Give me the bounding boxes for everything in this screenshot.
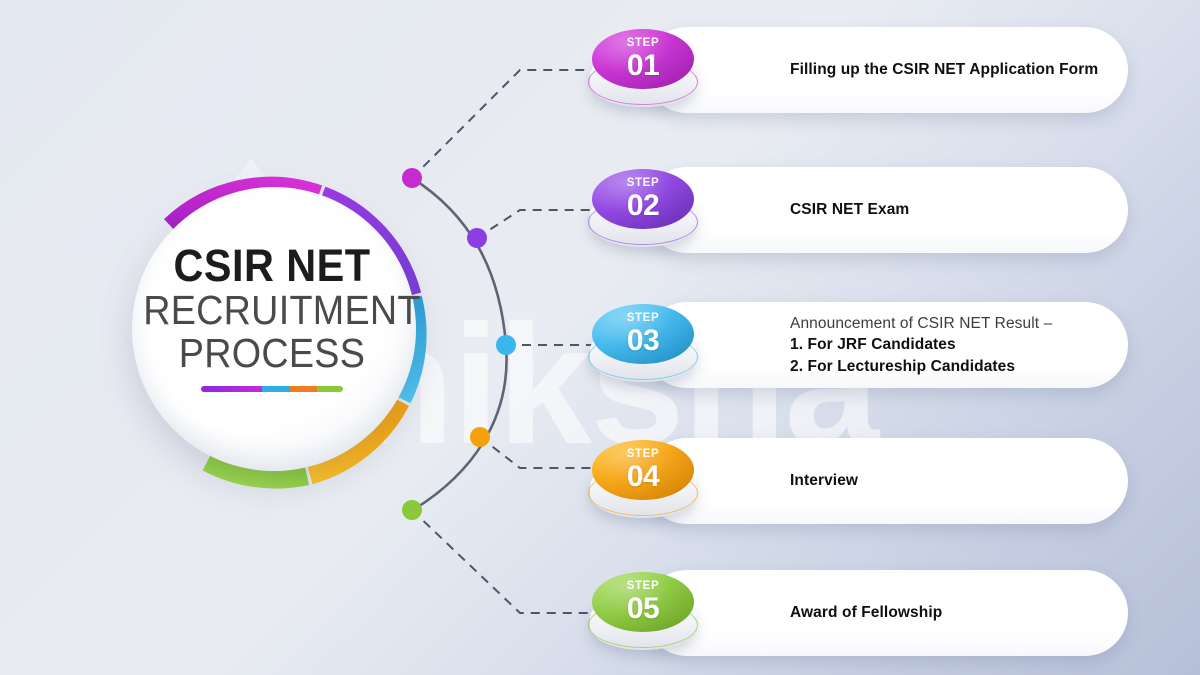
step-line: Announcement of CSIR NET Result –	[790, 313, 1052, 334]
step-text-3: Announcement of CSIR NET Result – 1. For…	[790, 313, 1052, 377]
node-dot-4	[470, 427, 490, 447]
step-badge-2[interactable]: STEP 02	[588, 169, 700, 253]
step-badge-5[interactable]: STEP 05	[588, 572, 700, 656]
step-row-4[interactable]: Interview STEP 04	[588, 438, 1128, 524]
step-line: Interview	[790, 470, 858, 491]
step-card-4[interactable]: Interview	[644, 438, 1128, 524]
step-card-1[interactable]: Filling up the CSIR NET Application Form	[644, 27, 1128, 113]
step-card-3[interactable]: Announcement of CSIR NET Result – 1. For…	[644, 302, 1128, 388]
node-dot-3	[496, 335, 516, 355]
step-badge-4[interactable]: STEP 04	[588, 440, 700, 524]
step-line: CSIR NET Exam	[790, 199, 909, 220]
node-dot-5	[402, 500, 422, 520]
step-line: 1. For JRF Candidates	[790, 334, 1052, 355]
step-line: Filling up the CSIR NET Application Form	[790, 59, 1098, 80]
step-text-5: Award of Fellowship	[790, 602, 942, 623]
step-text-4: Interview	[790, 470, 858, 491]
step-line: 2. For Lectureship Candidates	[790, 356, 1052, 377]
step-card-2[interactable]: CSIR NET Exam	[644, 167, 1128, 253]
step-badge-3[interactable]: STEP 03	[588, 304, 700, 388]
step-row-1[interactable]: Filling up the CSIR NET Application Form…	[588, 27, 1128, 113]
infographic-canvas: shiksha	[0, 0, 1200, 675]
node-dot-1	[402, 168, 422, 188]
step-card-5[interactable]: Award of Fellowship	[644, 570, 1128, 656]
step-line: Award of Fellowship	[790, 602, 942, 623]
step-row-3[interactable]: Announcement of CSIR NET Result – 1. For…	[588, 302, 1128, 388]
step-text-2: CSIR NET Exam	[790, 199, 909, 220]
step-row-2[interactable]: CSIR NET Exam STEP 02	[588, 167, 1128, 253]
step-row-5[interactable]: Award of Fellowship STEP 05	[588, 570, 1128, 656]
node-dot-2	[467, 228, 487, 248]
step-badge-1[interactable]: STEP 01	[588, 29, 700, 113]
step-text-1: Filling up the CSIR NET Application Form	[790, 59, 1098, 80]
